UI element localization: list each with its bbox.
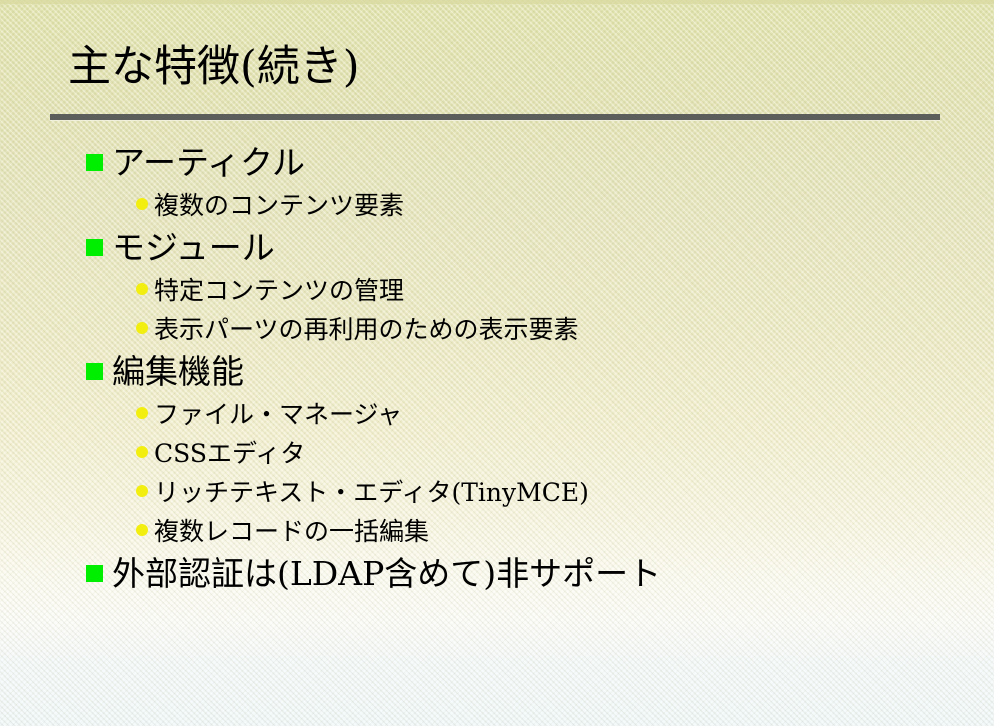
slide-title: 主な特徴(続き): [68, 44, 360, 91]
dot-bullet-icon: [136, 322, 148, 334]
bullet-item: 外部認証は(LDAP含めて)非サポート: [0, 553, 994, 599]
dot-bullet-icon: [136, 407, 148, 419]
bullet-label: 特定コンテンツの管理: [154, 273, 404, 309]
bullet-list: アーティクル複数のコンテンツ要素モジュール特定コンテンツの管理表示パーツの再利用…: [0, 142, 994, 599]
bullet-label: 編集機能: [112, 351, 244, 393]
square-bullet-icon: [86, 363, 103, 380]
bullet-label: 外部認証は(LDAP含めて)非サポート: [112, 553, 661, 595]
presentation-slide: 主な特徴(続き) アーティクル複数のコンテンツ要素モジュール特定コンテンツの管理…: [0, 0, 994, 726]
title-underline-rule: [50, 114, 940, 120]
dot-bullet-icon: [136, 198, 148, 210]
bullet-label: 複数レコードの一括編集: [154, 514, 429, 550]
bullet-label: 表示パーツの再利用のための表示要素: [154, 312, 579, 348]
square-bullet-icon: [86, 154, 103, 171]
bullet-item: ファイル・マネージャ: [0, 397, 994, 436]
bullet-label: モジュール: [112, 227, 275, 269]
bullet-item: モジュール: [0, 227, 994, 273]
dot-bullet-icon: [136, 485, 148, 497]
bullet-item: 複数レコードの一括編集: [0, 514, 994, 553]
bullet-label: リッチテキスト・エディタ(TinyMCE): [154, 475, 589, 511]
bullet-label: アーティクル: [112, 142, 305, 184]
bullet-item: リッチテキスト・エディタ(TinyMCE): [0, 475, 994, 514]
bullet-item: 表示パーツの再利用のための表示要素: [0, 312, 994, 351]
bullet-item: 特定コンテンツの管理: [0, 273, 994, 312]
bullet-item: CSSエディタ: [0, 436, 994, 475]
square-bullet-icon: [86, 239, 103, 256]
square-bullet-icon: [86, 565, 103, 582]
dot-bullet-icon: [136, 283, 148, 295]
dot-bullet-icon: [136, 446, 148, 458]
bullet-label: ファイル・マネージャ: [154, 397, 402, 433]
bullet-label: 複数のコンテンツ要素: [154, 188, 404, 224]
slide-content: 主な特徴(続き) アーティクル複数のコンテンツ要素モジュール特定コンテンツの管理…: [0, 0, 994, 726]
bullet-item: 複数のコンテンツ要素: [0, 188, 994, 227]
dot-bullet-icon: [136, 524, 148, 536]
bullet-label: CSSエディタ: [154, 436, 305, 472]
bullet-item: アーティクル: [0, 142, 994, 188]
bullet-item: 編集機能: [0, 351, 994, 397]
